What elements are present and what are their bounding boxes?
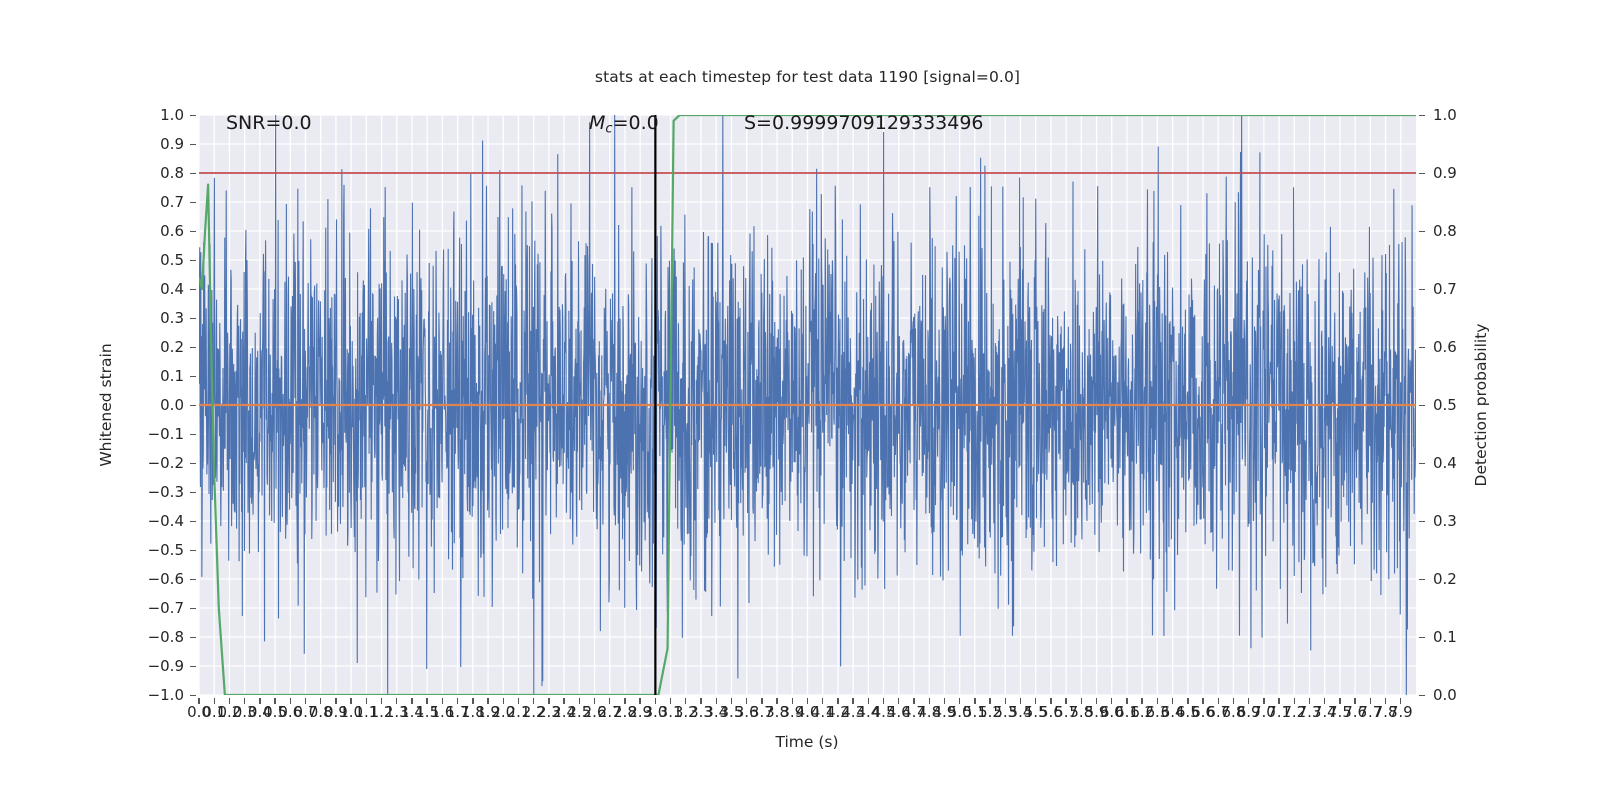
y-axis-right-tick-mark <box>1419 695 1425 696</box>
y-axis-left-tick-mark <box>190 318 196 319</box>
x-axis-tick-mark <box>792 698 793 704</box>
y-axis-left-tick-label: −0.8 <box>124 628 184 646</box>
y-axis-left-tick-label: −0.5 <box>124 541 184 559</box>
y-axis-left-tick-mark <box>190 666 196 667</box>
x-axis-tick-mark <box>746 698 747 704</box>
x-axis-tick-mark <box>898 698 899 704</box>
y-axis-left-tick-mark <box>190 347 196 348</box>
x-axis-tick-mark <box>1202 698 1203 704</box>
x-axis-tick-mark <box>396 698 397 704</box>
y-axis-left-tick-label: −0.9 <box>124 657 184 675</box>
y-axis-left-tick-mark <box>190 637 196 638</box>
x-axis-tick-mark <box>944 698 945 704</box>
x-axis-tick-mark <box>518 698 519 704</box>
y-axis-right-tick-mark <box>1419 115 1425 116</box>
x-axis-tick-mark <box>1172 698 1173 704</box>
y-axis-left-tick-mark <box>190 550 196 551</box>
x-axis-tick-mark <box>731 698 732 704</box>
x-axis-tick-mark <box>1111 698 1112 704</box>
y-axis-left-tick-label: −0.3 <box>124 483 184 501</box>
y-axis-left-tick-mark <box>190 463 196 464</box>
x-axis-tick-mark <box>1324 698 1325 704</box>
x-axis-tick-mark <box>883 698 884 704</box>
y-axis-right-tick-mark <box>1419 289 1425 290</box>
y-axis-left-tick-mark <box>190 173 196 174</box>
x-axis-tick-mark <box>366 698 367 704</box>
y-axis-right-tick-mark <box>1419 405 1425 406</box>
x-axis-tick-mark <box>594 698 595 704</box>
x-axis-title: Time (s) <box>775 733 838 751</box>
x-axis-tick-mark <box>1233 698 1234 704</box>
y-axis-right-tick-mark <box>1419 521 1425 522</box>
x-axis-tick-mark <box>1400 698 1401 704</box>
x-axis-tick-mark <box>274 698 275 704</box>
x-axis-tick-mark <box>700 698 701 704</box>
x-axis-tick-mark <box>1141 698 1142 704</box>
y-axis-left-title: Whitened strain <box>97 343 115 466</box>
x-axis-tick-mark <box>1370 698 1371 704</box>
y-axis-right-tick-mark <box>1419 173 1425 174</box>
y-axis-left-tick-label: −0.6 <box>124 570 184 588</box>
annotation-score: S=0.9999709129333496 <box>744 115 984 134</box>
x-axis-tick-mark <box>1263 698 1264 704</box>
x-axis-tick-mark <box>989 698 990 704</box>
x-axis-tick-mark <box>1278 698 1279 704</box>
x-axis-tick-mark <box>1081 698 1082 704</box>
y-axis-left-tick-mark <box>190 608 196 609</box>
x-axis-tick-mark <box>320 698 321 704</box>
y-axis-left-tick-mark <box>190 144 196 145</box>
y-axis-left-tick-label: −0.7 <box>124 599 184 617</box>
x-axis-tick-mark <box>1157 698 1158 704</box>
x-axis-tick-mark <box>214 698 215 704</box>
y-axis-left-tick-label: 0.8 <box>124 164 184 182</box>
x-axis-tick-mark <box>1096 698 1097 704</box>
x-axis-tick-mark <box>350 698 351 704</box>
y-axis-left-tick-mark <box>190 492 196 493</box>
y-axis-right-tick-mark <box>1419 579 1425 580</box>
x-axis-tick-mark <box>1035 698 1036 704</box>
y-axis-left-tick-label: −0.2 <box>124 454 184 472</box>
y-axis-left-tick-label: 0.2 <box>124 338 184 356</box>
y-axis-right-tick-label: 0.8 <box>1433 222 1493 240</box>
y-axis-left-tick-label: 0.7 <box>124 193 184 211</box>
y-axis-right-tick-label: 0.7 <box>1433 280 1493 298</box>
x-axis-tick-mark <box>198 698 199 704</box>
x-axis-tick-mark <box>1309 698 1310 704</box>
x-axis-tick-mark <box>1248 698 1249 704</box>
chart-title: stats at each timestep for test data 119… <box>199 68 1416 86</box>
x-axis-tick-mark <box>609 698 610 704</box>
x-axis-tick-mark <box>655 698 656 704</box>
y-axis-left-tick-label: 1.0 <box>124 106 184 124</box>
x-axis-tick-mark <box>335 698 336 704</box>
y-axis-left-tick-mark <box>190 376 196 377</box>
y-axis-left-tick-label: 0.6 <box>124 222 184 240</box>
x-axis-tick-mark <box>229 698 230 704</box>
x-axis-tick-mark <box>290 698 291 704</box>
x-axis-tick-mark <box>852 698 853 704</box>
x-axis-tick-mark <box>533 698 534 704</box>
y-axis-right-tick-label: 0.1 <box>1433 628 1493 646</box>
x-axis-tick-mark <box>579 698 580 704</box>
y-axis-right-tick-mark <box>1419 347 1425 348</box>
x-axis-tick-mark <box>1218 698 1219 704</box>
x-axis-tick-mark <box>624 698 625 704</box>
x-axis-tick-mark <box>411 698 412 704</box>
chirp-mass-subscript: c <box>605 121 612 136</box>
x-axis-tick-mark <box>1294 698 1295 704</box>
x-axis-tick-mark <box>685 698 686 704</box>
y-axis-right-tick-label: 1.0 <box>1433 106 1493 124</box>
y-axis-left-tick-mark <box>190 579 196 580</box>
y-axis-left-tick-mark <box>190 289 196 290</box>
y-axis-left-tick-mark <box>190 521 196 522</box>
x-axis-tick-mark <box>1065 698 1066 704</box>
y-axis-left-tick-label: 0.3 <box>124 309 184 327</box>
x-axis-tick-mark <box>670 698 671 704</box>
y-axis-left-tick-mark <box>190 695 196 696</box>
y-axis-left-tick-label: 0.4 <box>124 280 184 298</box>
x-axis-tick-mark <box>487 698 488 704</box>
plot-area[interactable]: SNR=0.0 Mc=0.0 S=0.9999709129333496 wave… <box>199 115 1416 695</box>
y-axis-right-tick-mark <box>1419 231 1425 232</box>
x-axis-tick-mark <box>1020 698 1021 704</box>
chirp-mass-value: =0.0 <box>613 115 659 134</box>
y-axis-left-tick-mark <box>190 115 196 116</box>
y-axis-right-tick-label: 0.3 <box>1433 512 1493 530</box>
x-axis-tick-mark <box>503 698 504 704</box>
annotation-chirp-mass: Mc=0.0 <box>589 115 659 136</box>
y-axis-right-tick-mark <box>1419 637 1425 638</box>
x-axis-tick-label: 7.9 <box>1389 703 1413 721</box>
x-axis-tick-mark <box>1050 698 1051 704</box>
chirp-mass-symbol: M <box>589 115 605 134</box>
x-axis-tick-mark <box>1385 698 1386 704</box>
y-axis-left-tick-label: 0.1 <box>124 367 184 385</box>
x-axis-tick-mark <box>913 698 914 704</box>
data-series-layer <box>199 115 1416 695</box>
annotation-snr: SNR=0.0 <box>226 115 312 134</box>
x-axis-tick-mark <box>639 698 640 704</box>
y-axis-left-tick-label: 0.5 <box>124 251 184 269</box>
x-axis-tick-mark <box>822 698 823 704</box>
x-axis-tick-mark <box>548 698 549 704</box>
y-axis-left-tick-mark <box>190 405 196 406</box>
x-axis-tick-mark <box>1339 698 1340 704</box>
x-axis-tick-mark <box>929 698 930 704</box>
x-axis-tick-mark <box>244 698 245 704</box>
y-axis-left-tick-mark <box>190 260 196 261</box>
figure-canvas: stats at each timestep for test data 119… <box>0 0 1600 800</box>
x-axis-tick-mark <box>807 698 808 704</box>
x-axis-tick-mark <box>959 698 960 704</box>
y-axis-right-tick-label: 0.0 <box>1433 686 1493 704</box>
x-axis-tick-mark <box>1354 698 1355 704</box>
y-axis-right-tick-label: 0.9 <box>1433 164 1493 182</box>
x-axis-tick-mark <box>776 698 777 704</box>
y-axis-right-title: Detection probability <box>1472 324 1490 487</box>
x-axis-tick-mark <box>442 698 443 704</box>
x-axis-tick-mark <box>1126 698 1127 704</box>
y-axis-left-tick-label: 0.9 <box>124 135 184 153</box>
x-axis-tick-mark <box>472 698 473 704</box>
y-axis-left-tick-label: −0.4 <box>124 512 184 530</box>
y-axis-right-tick-mark <box>1419 463 1425 464</box>
x-axis-tick-mark <box>259 698 260 704</box>
x-axis-tick-mark <box>426 698 427 704</box>
x-axis-tick-mark <box>761 698 762 704</box>
x-axis-tick-mark <box>457 698 458 704</box>
y-axis-left-tick-label: −0.1 <box>124 425 184 443</box>
y-axis-left-tick-label: −1.0 <box>124 686 184 704</box>
x-axis-tick-mark <box>716 698 717 704</box>
x-axis-tick-mark <box>1187 698 1188 704</box>
x-axis-tick-mark <box>974 698 975 704</box>
x-axis-tick-mark <box>381 698 382 704</box>
x-axis-tick-mark <box>563 698 564 704</box>
y-axis-left-tick-mark <box>190 231 196 232</box>
y-axis-left-tick-mark <box>190 202 196 203</box>
x-axis-tick-mark <box>1005 698 1006 704</box>
x-axis-tick-mark <box>305 698 306 704</box>
y-axis-right-tick-label: 0.2 <box>1433 570 1493 588</box>
y-axis-left-tick-label: 0.0 <box>124 396 184 414</box>
x-axis-tick-mark <box>837 698 838 704</box>
x-axis-tick-mark <box>868 698 869 704</box>
y-axis-left-tick-mark <box>190 434 196 435</box>
